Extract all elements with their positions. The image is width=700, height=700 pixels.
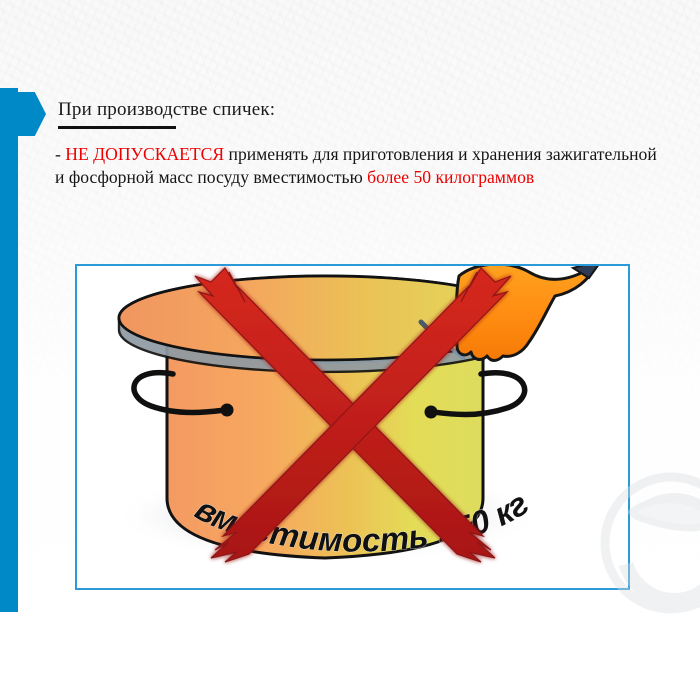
body-dash: - xyxy=(55,144,65,164)
body-emphasis-prohibited: НЕ ДОПУСКАЕТСЯ xyxy=(65,144,224,164)
watermark-logo xyxy=(596,468,700,618)
pot-illustration: вместимость >50 кг xyxy=(77,266,628,588)
illustration-frame: вместимость >50 кг xyxy=(75,264,630,590)
title-underline xyxy=(58,126,176,129)
left-accent-bar xyxy=(0,88,18,612)
page-title: При производстве спичек: xyxy=(58,99,275,121)
body-emphasis-capacity: более 50 килограммов xyxy=(367,167,534,187)
pot-handle-right-rivet xyxy=(425,406,438,419)
slide-canvas: При производстве спичек: - НЕ ДОПУСКАЕТС… xyxy=(0,0,700,700)
body-paragraph: - НЕ ДОПУСКАЕТСЯ применять для приготовл… xyxy=(55,143,663,189)
pot-handle-left-rivet xyxy=(221,404,234,417)
